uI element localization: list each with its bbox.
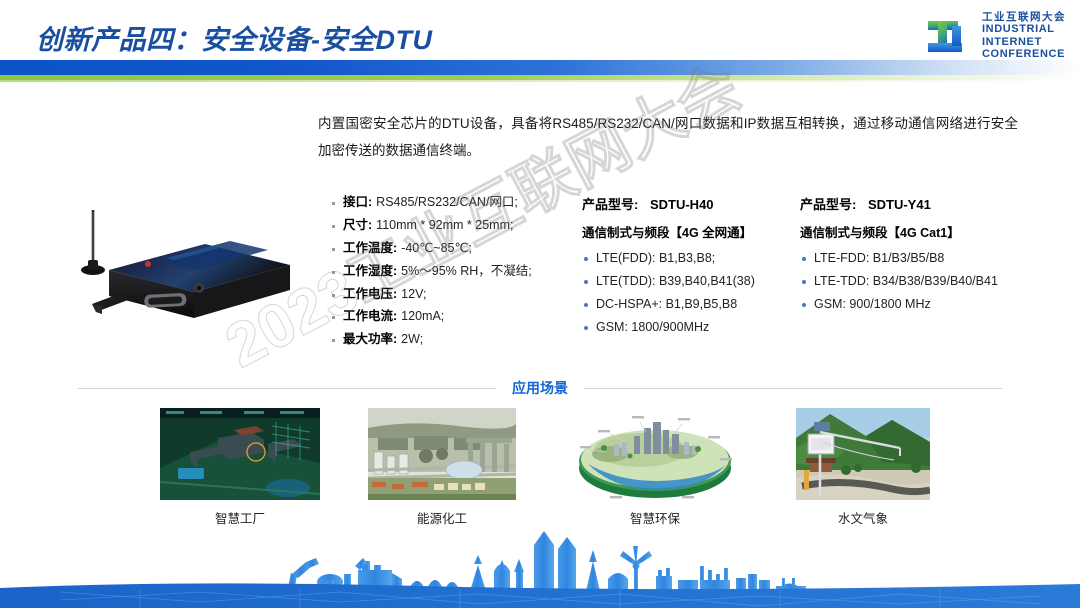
band-row: LTE-TDD: B34/B38/B39/B40/B41: [800, 274, 1030, 288]
divider-right: [584, 388, 1002, 389]
band-text: LTE-TDD: B34/B38/B39/B40/B41: [814, 274, 998, 288]
scenario-image-factory: [160, 408, 320, 505]
bullet-dot-icon: [802, 303, 806, 307]
spec-key: 工作电流:: [343, 309, 397, 323]
divider-left: [78, 388, 496, 389]
spec-row: 工作电流: 120mA;: [332, 309, 572, 323]
spec-value: 110mm * 92mm * 25mm;: [376, 218, 513, 232]
logo-title-en-3: CONFERENCE: [982, 48, 1066, 60]
header-accent-bar: [0, 60, 1080, 75]
spec-value: 120mA;: [401, 309, 444, 323]
bullet-square-icon: [332, 202, 335, 205]
band-text: GSM: 900/1800 MHz: [814, 297, 931, 311]
scenarios-section-header: 应用场景: [78, 378, 1002, 398]
conference-logo: 工业互联网大会 INDUSTRIAL INTERNET CONFERENCE: [922, 10, 1066, 62]
bullet-dot-icon: [584, 257, 588, 261]
model-y41-band-header: 通信制式与频段【4G Cat1】: [800, 222, 1030, 241]
model-y41-block: 产品型号: SDTU-Y41 通信制式与频段【4G Cat1】 LTE-FDD:…: [800, 194, 1030, 320]
spec-row: 工作湿度: 5%～95% RH，不凝结;: [332, 264, 572, 278]
spec-row: 尺寸: 110mm * 92mm * 25mm;: [332, 218, 572, 232]
band-row: DC-HSPA+: B1,B9,B5,B8: [582, 297, 797, 311]
band-row: LTE(FDD): B1,B3,B8;: [582, 251, 797, 265]
page-title: 创新产品四：安全设备-安全DTU: [36, 18, 432, 57]
band-row: GSM: 1800/900MHz: [582, 320, 797, 334]
scenario-caption: 能源化工: [364, 508, 520, 527]
spec-row: 最大功率: 2W;: [332, 332, 572, 346]
logo-title-en-1: INDUSTRIAL: [982, 23, 1066, 35]
logo-title-en-2: INTERNET: [982, 36, 1066, 48]
scenario-image-petrochemical: [368, 408, 516, 505]
model-value: SDTU-Y41: [868, 197, 931, 212]
bullet-dot-icon: [802, 257, 806, 261]
model-value: SDTU-H40: [650, 197, 714, 212]
scenario-caption: 水文气象: [790, 508, 936, 527]
band-text: DC-HSPA+: B1,B9,B5,B8: [596, 297, 737, 311]
band-row: LTE(TDD): B39,B40,B41(38): [582, 274, 797, 288]
slide: 创新产品四：安全设备-安全DTU: [0, 0, 1080, 608]
spec-value: -40℃~85℃;: [401, 241, 472, 255]
spec-value: 5%～95% RH，不凝结;: [401, 264, 532, 278]
scenario-caption: 智慧环保: [574, 508, 736, 527]
bullet-dot-icon: [584, 280, 588, 284]
spec-key: 工作湿度:: [343, 264, 397, 278]
scenario-caption: 智慧工厂: [150, 508, 330, 527]
section-title: 应用场景: [496, 378, 584, 398]
logo-title-cn: 工业互联网大会: [982, 12, 1066, 24]
spec-value: 2W;: [401, 332, 423, 346]
bullet-square-icon: [332, 225, 335, 228]
bullet-square-icon: [332, 316, 335, 319]
bullet-square-icon: [332, 339, 335, 342]
band-text: GSM: 1800/900MHz: [596, 320, 709, 334]
bullet-square-icon: [332, 248, 335, 251]
spec-value: 12V;: [401, 287, 426, 301]
spec-key: 工作温度:: [343, 241, 397, 255]
scenario-gallery: 智慧工厂: [150, 408, 950, 528]
band-text: LTE(TDD): B39,B40,B41(38): [596, 274, 755, 288]
model-y41-title: 产品型号: SDTU-Y41: [800, 194, 1030, 213]
model-h40-band-header: 通信制式与频段【4G 全网通】: [582, 222, 797, 241]
model-label: 产品型号:: [582, 197, 638, 212]
spec-list: 接口: RS485/RS232/CAN/网口; 尺寸: 110mm * 92mm…: [332, 195, 572, 355]
spec-key: 工作电压:: [343, 287, 397, 301]
spec-value: RS485/RS232/CAN/网口;: [376, 195, 518, 209]
bullet-dot-icon: [802, 280, 806, 284]
scenario-image-hydro-station: [796, 408, 930, 505]
logo-mark-icon: [922, 10, 974, 62]
spec-row: 工作温度: -40℃~85℃;: [332, 241, 572, 255]
header-accent-green-thin: [0, 80, 1080, 82]
spec-key: 接口:: [343, 195, 372, 209]
spec-row: 接口: RS485/RS232/CAN/网口;: [332, 195, 572, 209]
bullet-square-icon: [332, 294, 335, 297]
spec-key: 最大功率:: [343, 332, 397, 346]
band-text: LTE(FDD): B1,B3,B8;: [596, 251, 715, 265]
model-h40-block: 产品型号: SDTU-H40 通信制式与频段【4G 全网通】 LTE(FDD):…: [582, 194, 797, 343]
scenario-image-eco-city: [570, 404, 740, 513]
spec-row: 工作电压: 12V;: [332, 287, 572, 301]
bullet-square-icon: [332, 271, 335, 274]
bullet-dot-icon: [584, 303, 588, 307]
band-row: GSM: 900/1800 MHz: [800, 297, 1030, 311]
footer-graphic: [0, 530, 1080, 608]
spec-key: 尺寸:: [343, 218, 372, 232]
bullet-dot-icon: [584, 326, 588, 330]
band-text: LTE-FDD: B1/B3/B5/B8: [814, 251, 944, 265]
logo-text: 工业互联网大会 INDUSTRIAL INTERNET CONFERENCE: [982, 12, 1066, 61]
product-photo: [62, 192, 312, 337]
product-description: 内置国密安全芯片的DTU设备，具备将RS485/RS232/CAN/网口数据和I…: [318, 110, 1018, 164]
model-h40-title: 产品型号: SDTU-H40: [582, 194, 797, 213]
band-row: LTE-FDD: B1/B3/B5/B8: [800, 251, 1030, 265]
model-label: 产品型号:: [800, 197, 856, 212]
